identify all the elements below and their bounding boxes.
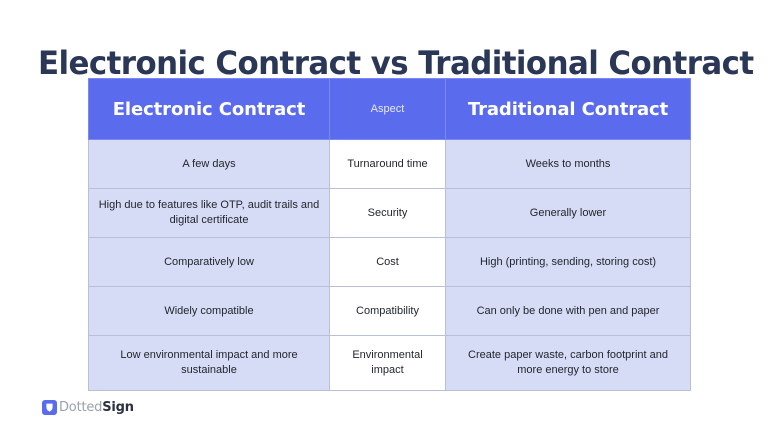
cell-aspect: Turnaround time: [330, 140, 446, 189]
table-row: Low environmental impact and more sustai…: [89, 336, 691, 391]
dottedsign-logo: DottedSign: [42, 400, 134, 415]
dottedsign-check-icon: [42, 400, 57, 415]
comparison-table: Electronic Contract Aspect Traditional C…: [88, 78, 691, 391]
table-header: Electronic Contract Aspect Traditional C…: [89, 79, 691, 140]
cell-traditional: Create paper waste, carbon footprint and…: [446, 336, 691, 391]
header-traditional-contract: Traditional Contract: [446, 79, 691, 140]
header-electronic-contract: Electronic Contract: [89, 79, 330, 140]
cell-electronic: Low environmental impact and more sustai…: [89, 336, 330, 391]
table-row: Comparatively low Cost High (printing, s…: [89, 238, 691, 287]
cell-aspect: Security: [330, 189, 446, 238]
cell-traditional: Generally lower: [446, 189, 691, 238]
logo-text-dotted: Dotted: [59, 400, 102, 415]
cell-traditional: High (printing, sending, storing cost): [446, 238, 691, 287]
cell-electronic: Comparatively low: [89, 238, 330, 287]
table-body: A few days Turnaround time Weeks to mont…: [89, 140, 691, 391]
cell-electronic: A few days: [89, 140, 330, 189]
table-row: Widely compatible Compatibility Can only…: [89, 287, 691, 336]
cell-aspect: Cost: [330, 238, 446, 287]
cell-electronic: High due to features like OTP, audit tra…: [89, 189, 330, 238]
dottedsign-wordmark: DottedSign: [59, 400, 134, 415]
cell-traditional: Can only be done with pen and paper: [446, 287, 691, 336]
cell-aspect: Environmental impact: [330, 336, 446, 391]
logo-text-sign: Sign: [102, 400, 134, 415]
cell-aspect: Compatibility: [330, 287, 446, 336]
cell-electronic: Widely compatible: [89, 287, 330, 336]
header-aspect: Aspect: [330, 79, 446, 140]
table-header-row: Electronic Contract Aspect Traditional C…: [89, 79, 691, 140]
table-row: High due to features like OTP, audit tra…: [89, 189, 691, 238]
cell-traditional: Weeks to months: [446, 140, 691, 189]
table-row: A few days Turnaround time Weeks to mont…: [89, 140, 691, 189]
